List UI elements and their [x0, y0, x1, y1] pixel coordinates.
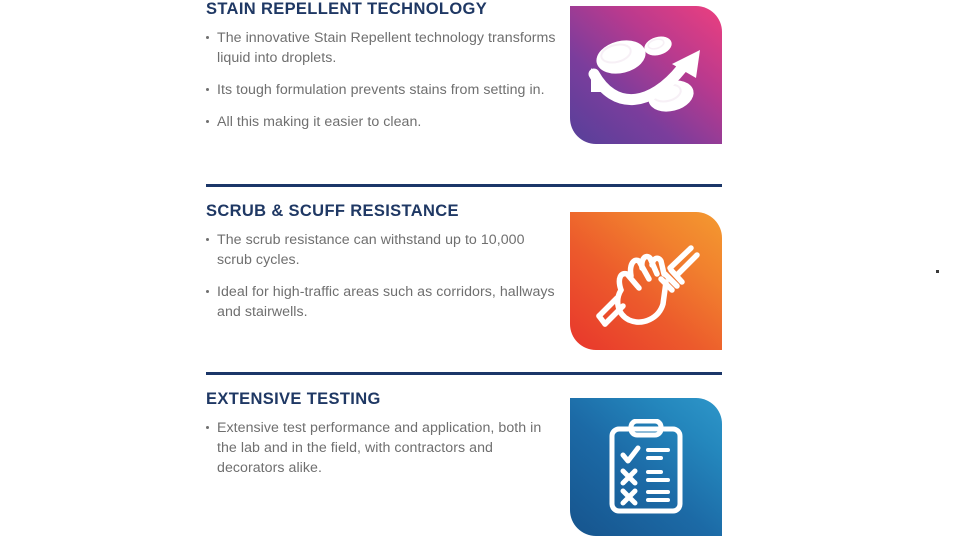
feature-bullet-list: The innovative Stain Repellent technolog…: [206, 28, 558, 132]
icon-tile-scrub-resistance: [570, 212, 722, 350]
icon-tile-stain-repellent: [570, 6, 722, 144]
feature-text-group: EXTENSIVE TESTING Extensive test perform…: [206, 390, 558, 478]
image-artifact-speck: [936, 270, 939, 273]
list-item: The innovative Stain Repellent technolog…: [206, 28, 558, 68]
feature-text-group: STAIN REPELLENT TECHNOLOGY The innovativ…: [206, 0, 558, 132]
section-divider: [206, 372, 722, 375]
list-item: The scrub resistance can withstand up to…: [206, 230, 558, 270]
icon-tile-extensive-testing: [570, 398, 722, 536]
feature-heading-stain-repellent-technology: STAIN REPELLENT TECHNOLOGY: [206, 0, 558, 28]
feature-bullet-list: Extensive test performance and applicati…: [206, 418, 558, 478]
list-item: Extensive test performance and applicati…: [206, 418, 558, 478]
feature-slide: STAIN REPELLENT TECHNOLOGY The innovativ…: [0, 0, 963, 541]
feature-heading-extensive-testing: EXTENSIVE TESTING: [206, 390, 558, 418]
list-item: Ideal for high-traffic areas such as cor…: [206, 282, 558, 322]
section-divider: [206, 184, 722, 187]
feature-bullet-list: The scrub resistance can withstand up to…: [206, 230, 558, 322]
list-item: All this making it easier to clean.: [206, 112, 558, 132]
list-item: Its tough formulation prevents stains fr…: [206, 80, 558, 100]
feature-text-group: SCRUB & SCUFF RESISTANCE The scrub resis…: [206, 202, 558, 322]
feature-heading-scrub-scuff-resistance: SCRUB & SCUFF RESISTANCE: [206, 202, 558, 230]
